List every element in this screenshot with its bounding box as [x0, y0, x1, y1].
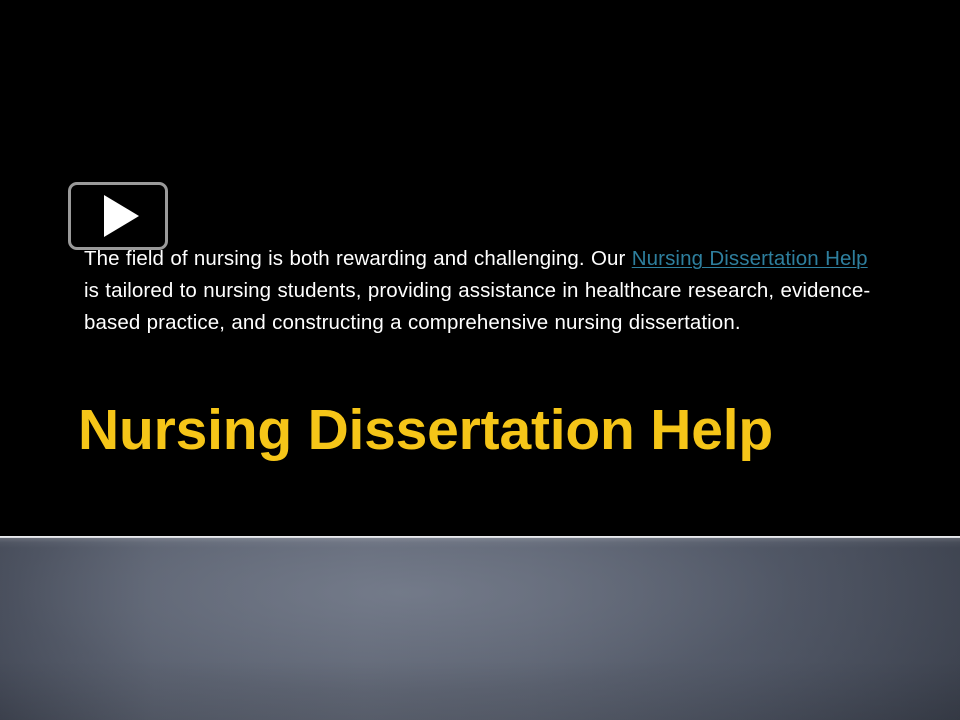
band-bottom-shade — [0, 660, 960, 720]
body-paragraph: The field of nursing is both rewarding a… — [84, 243, 876, 339]
footer-band — [0, 538, 960, 720]
play-button[interactable] — [68, 182, 168, 250]
body-text-segment-2: is tailored to nursing students, providi… — [84, 279, 870, 334]
slide-title: Nursing Dissertation Help — [78, 396, 908, 464]
nursing-dissertation-help-link[interactable]: Nursing Dissertation Help — [632, 247, 868, 270]
presentation-slide: The field of nursing is both rewarding a… — [0, 0, 960, 720]
play-triangle-icon — [104, 195, 139, 237]
body-text-segment-1: The field of nursing is both rewarding a… — [84, 247, 632, 270]
band-top-sheen — [0, 538, 960, 548]
